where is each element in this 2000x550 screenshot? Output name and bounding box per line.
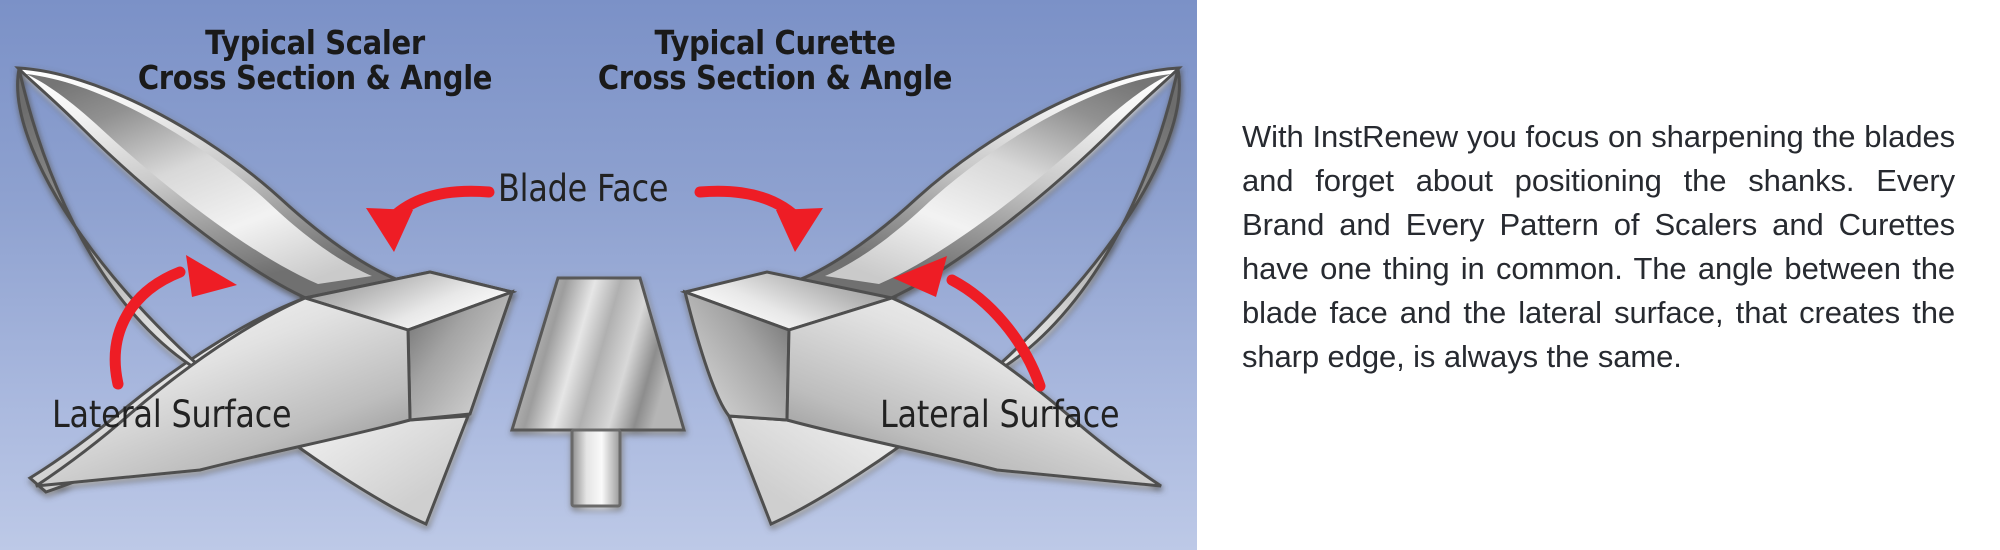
- lateral-surface-label-left: Lateral Surface: [52, 395, 291, 434]
- scaler-heading-line2: Cross Section & Angle: [126, 61, 504, 96]
- arrow-blade-face-right: [700, 191, 823, 252]
- scaler-blade-cross-section: [14, 68, 512, 548]
- page-root: Typical Scaler Cross Section & Angle Typ…: [0, 0, 2000, 550]
- sharpening-stone-cone: [512, 278, 684, 506]
- scaler-heading: Typical Scaler Cross Section & Angle: [126, 26, 504, 96]
- instrument-cross-section-diagram: Typical Scaler Cross Section & Angle Typ…: [0, 0, 1197, 550]
- curette-heading-line1: Typical Curette: [586, 26, 964, 61]
- lateral-surface-label-right: Lateral Surface: [880, 395, 1119, 434]
- arrow-blade-face-left: [366, 191, 489, 252]
- blade-face-label: Blade Face: [498, 169, 668, 208]
- curette-heading: Typical Curette Cross Section & Angle: [586, 26, 964, 96]
- curette-heading-line2: Cross Section & Angle: [586, 61, 964, 96]
- curette-blade-cross-section: [685, 68, 1179, 524]
- description-paragraph: With InstRenew you focus on sharpening t…: [1242, 115, 1955, 379]
- scaler-heading-line1: Typical Scaler: [126, 26, 504, 61]
